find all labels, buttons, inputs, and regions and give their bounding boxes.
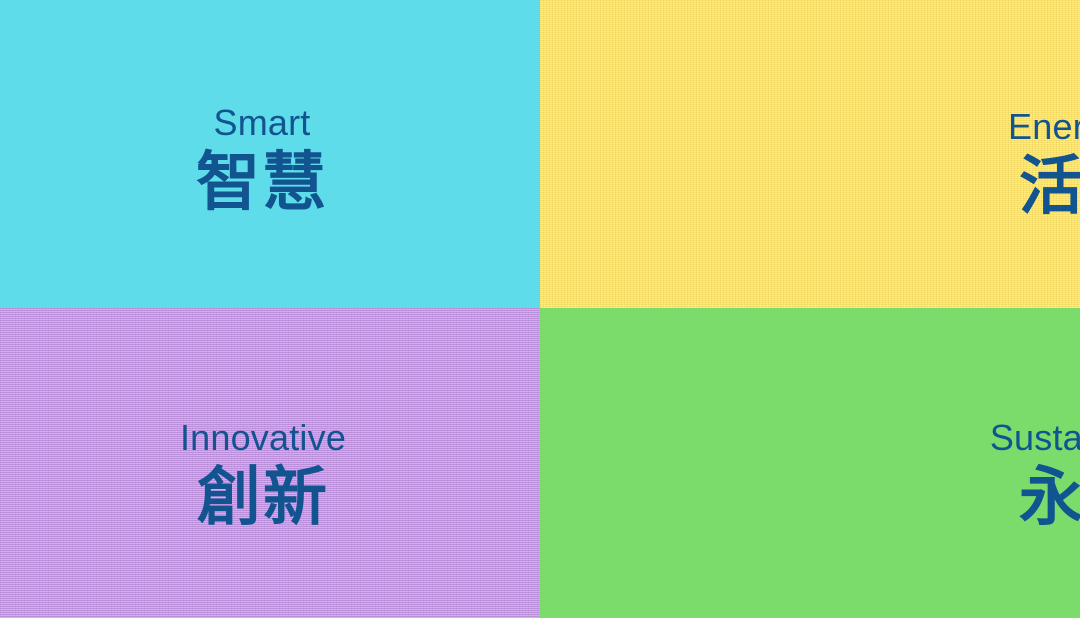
value-card-sustainable[interactable]: Sustainable 永續 bbox=[540, 308, 1080, 618]
value-label-block: Innovative 創新 bbox=[180, 420, 346, 530]
value-card-energetic[interactable]: Energetic 活力 bbox=[540, 0, 1080, 308]
value-label-english: Energetic bbox=[1008, 109, 1080, 145]
brand-values-board: Smart 智慧 Energetic 活力 Innovative 創新 Sust… bbox=[0, 0, 1080, 618]
panel-texture-overlay bbox=[540, 0, 1080, 308]
value-label-english: Sustainable bbox=[990, 420, 1080, 456]
value-card-innovative[interactable]: Innovative 創新 bbox=[0, 308, 540, 618]
value-label-block: Energetic 活力 bbox=[1008, 109, 1080, 219]
value-label-block: Sustainable 永續 bbox=[990, 420, 1080, 530]
value-label-chinese: 創新 bbox=[197, 466, 329, 530]
value-card-smart[interactable]: Smart 智慧 bbox=[0, 0, 540, 308]
values-grid: Smart 智慧 Energetic 活力 Innovative 創新 Sust… bbox=[0, 0, 1080, 618]
value-label-chinese: 活力 bbox=[1019, 155, 1080, 219]
value-label-english: Smart bbox=[213, 105, 310, 141]
value-label-block: Smart 智慧 bbox=[196, 105, 328, 215]
value-label-chinese: 永續 bbox=[1019, 466, 1080, 530]
value-label-chinese: 智慧 bbox=[196, 151, 328, 215]
value-label-english: Innovative bbox=[180, 420, 346, 456]
